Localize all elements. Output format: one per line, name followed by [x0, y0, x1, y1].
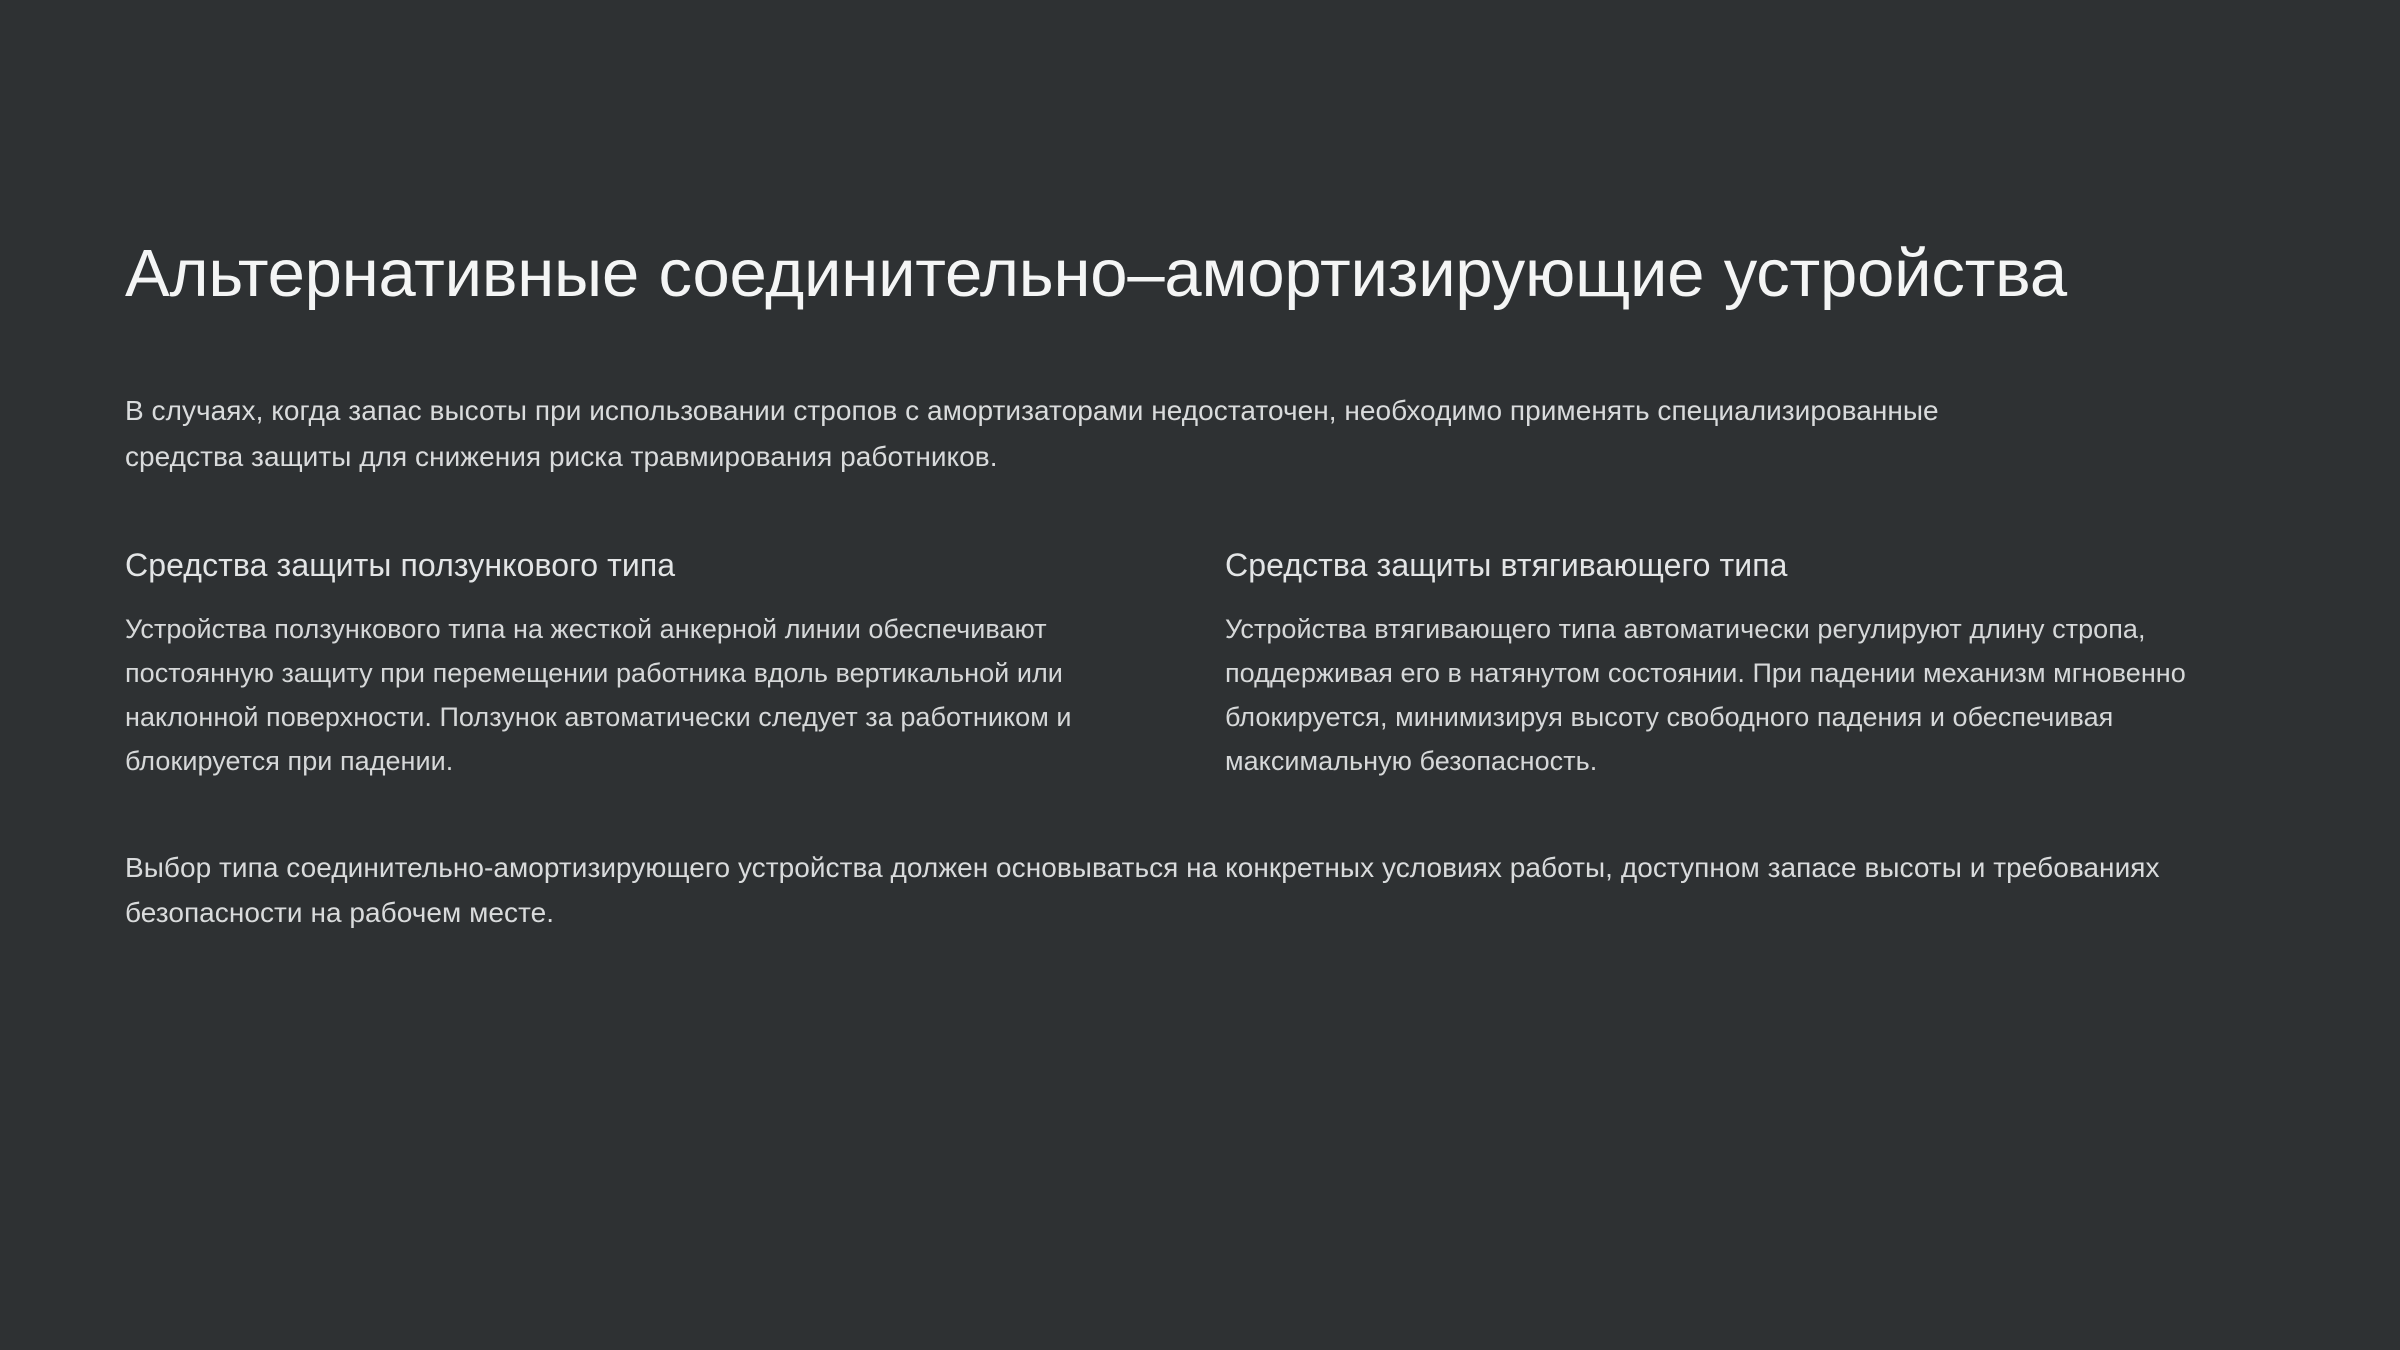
column-retractable-type: Средства защиты втягивающего типа Устрой… [1225, 545, 2285, 783]
column-body-retractable-type: Устройства втягивающего типа автоматичес… [1225, 585, 2285, 783]
column-slider-type: Средства защиты ползункового типа Устрой… [125, 545, 1185, 783]
column-body-slider-type: Устройства ползункового типа на жесткой … [125, 585, 1185, 783]
two-column-section: Средства защиты ползункового типа Устрой… [125, 480, 2285, 783]
slide-content: Альтернативные соединительно–амортизирую… [125, 236, 2285, 936]
slide-root: Альтернативные соединительно–амортизирую… [0, 0, 2400, 1350]
page-title: Альтернативные соединительно–амортизирую… [125, 236, 2135, 312]
intro-paragraph: В случаях, когда запас высоты при исполь… [125, 312, 2015, 479]
column-heading-retractable-type: Средства защиты втягивающего типа [1225, 545, 2285, 585]
closing-paragraph: Выбор типа соединительно-амортизирующего… [125, 783, 2245, 936]
column-heading-slider-type: Средства защиты ползункового типа [125, 545, 1185, 585]
